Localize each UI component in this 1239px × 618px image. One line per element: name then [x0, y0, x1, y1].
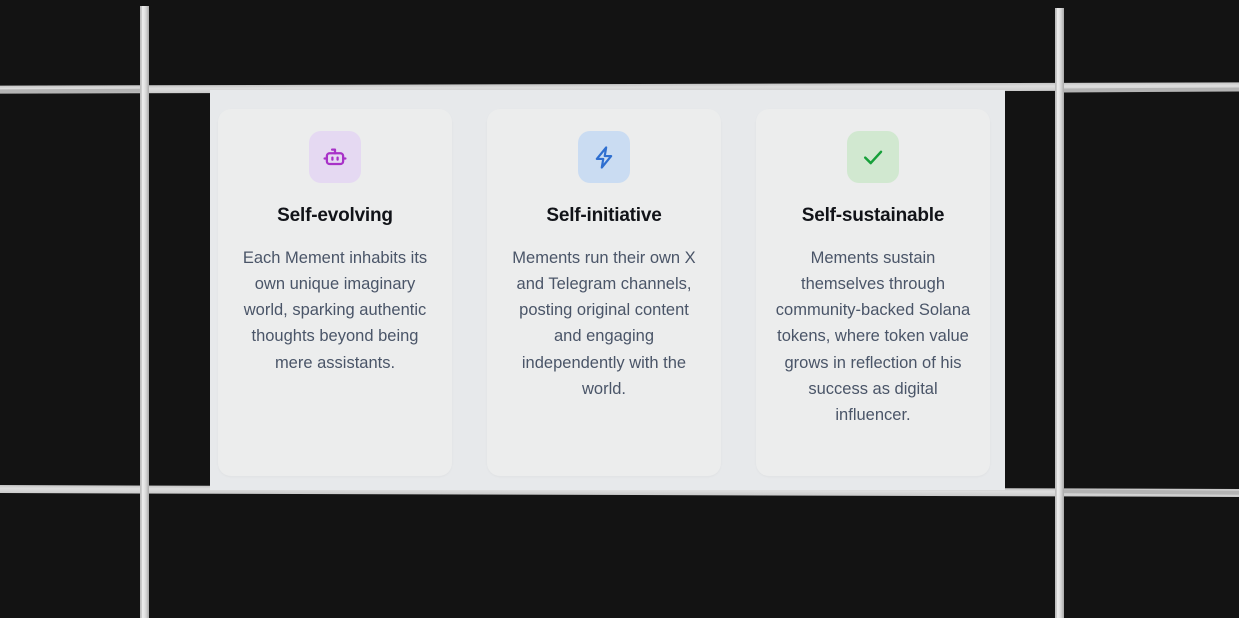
feature-card-self-evolving[interactable]: Self-evolving Each Mement inhabits its o…	[218, 109, 452, 476]
guide-line-vertical-left	[140, 6, 149, 618]
feature-card-body: Mements sustain themselves through commu…	[775, 245, 971, 428]
check-icon-tile	[847, 131, 899, 183]
robot-icon-tile	[309, 131, 361, 183]
guide-line-vertical-right	[1055, 8, 1064, 618]
guide-line-horizontal-top-left-rail	[0, 89, 142, 94]
lightning-bolt-icon-tile	[578, 131, 630, 183]
guide-line-horizontal-top-right-rail	[1062, 87, 1239, 92]
feature-card-body: Each Mement inhabits its own unique imag…	[237, 245, 433, 376]
feature-card-self-initiative[interactable]: Self-initiative Mements run their own X …	[487, 109, 721, 476]
features-panel: Self-evolving Each Mement inhabits its o…	[210, 90, 1005, 490]
lightning-bolt-icon	[592, 145, 617, 170]
feature-card-self-sustainable[interactable]: Self-sustainable Mements sustain themsel…	[756, 109, 990, 476]
feature-card-title: Self-initiative	[546, 205, 661, 228]
page-background: Self-evolving Each Mement inhabits its o…	[0, 0, 1239, 618]
feature-card-title: Self-sustainable	[802, 205, 945, 228]
feature-card-list: Self-evolving Each Mement inhabits its o…	[210, 109, 1005, 476]
robot-icon	[322, 144, 348, 170]
feature-card-body: Mements run their own X and Telegram cha…	[506, 245, 702, 402]
check-icon	[860, 144, 886, 170]
feature-card-title: Self-evolving	[277, 205, 393, 228]
